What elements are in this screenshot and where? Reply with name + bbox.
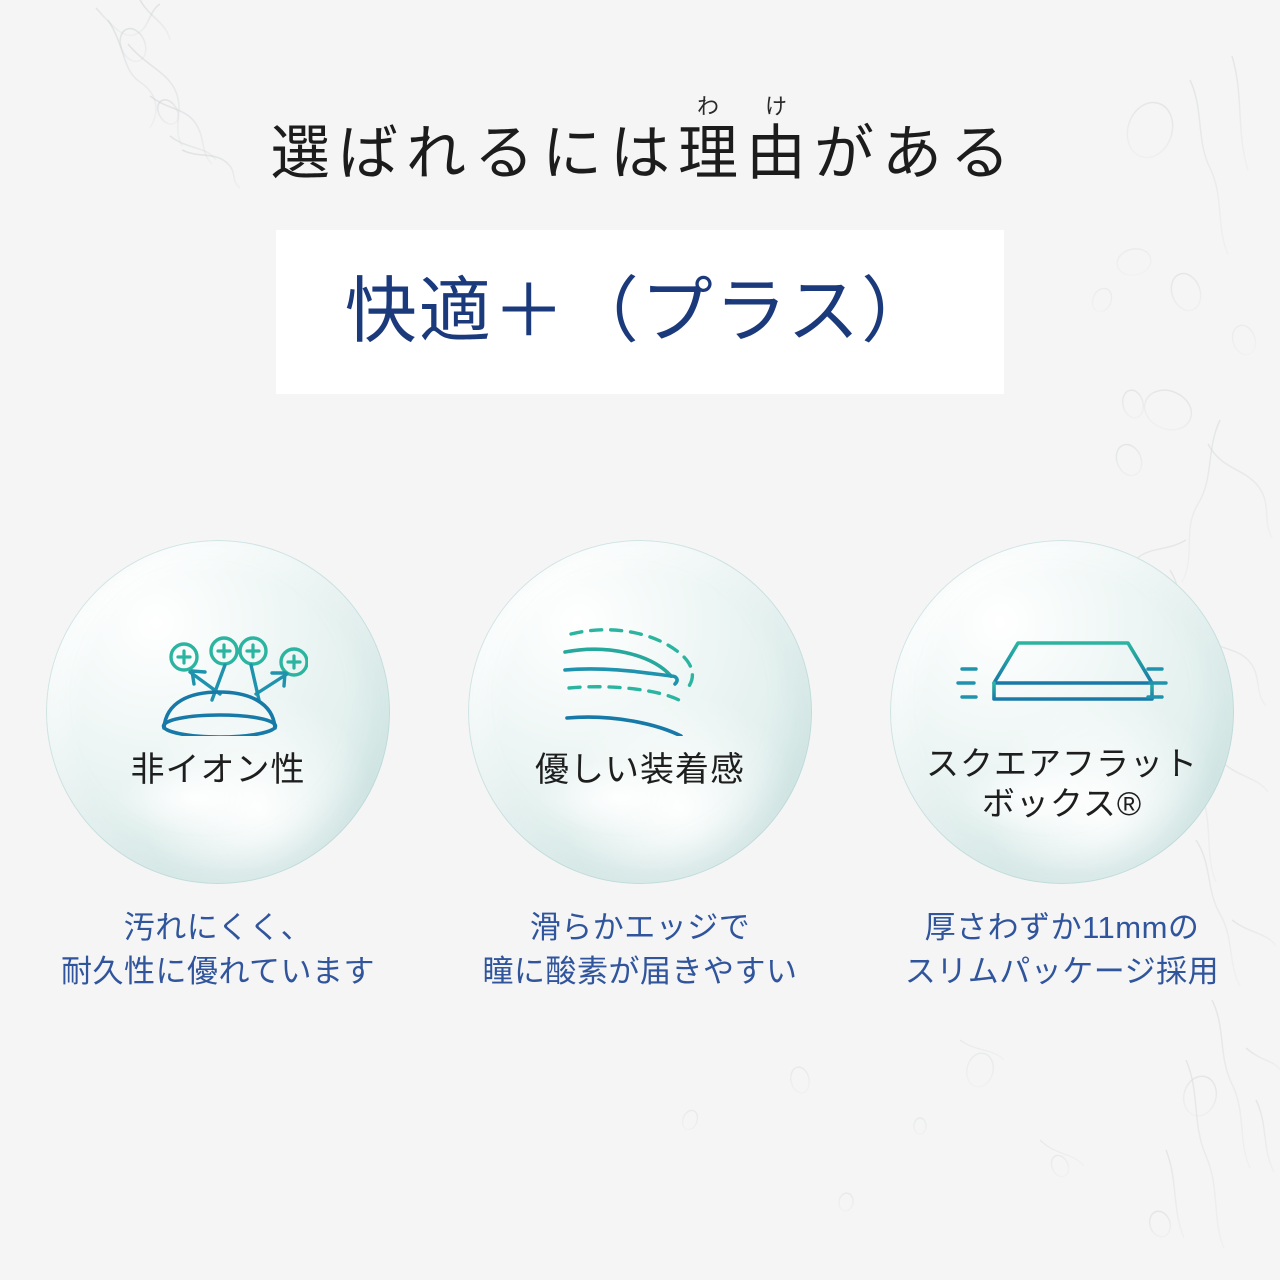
feature-list: 非イオン性 汚れにくく、 耐久性に優れています [0,540,1280,994]
headline-char: 選 [266,124,334,184]
feature-label: 優しい装着感 [535,750,745,791]
ruby-base-char: 理 [678,124,738,184]
feature-item-non-ionic: 非イオン性 汚れにくく、 耐久性に優れています [18,540,418,994]
feature-caption: 滑らかエッジで 瞳に酸素が届きやすい [483,906,798,994]
feature-caption-line: 汚れにくく、 [124,910,312,945]
headline-char: る [470,124,538,184]
feature-bubble: 非イオン性 [46,540,390,884]
feature-item-smooth-edge: 優しい装着感 滑らかエッジで 瞳に酸素が届きやすい [440,540,840,994]
feature-label-line: 優しい装着感 [535,751,745,789]
furigana-text: わ [697,96,719,118]
feature-label: スクエアフラット ボックス® [926,744,1198,825]
feature-caption-line: 厚さわずか11mmの [925,910,1200,945]
feature-label-line: ボックス® [982,785,1142,822]
smooth-edge-icon [555,614,725,736]
feature-caption-line: 耐久性に優れています [61,954,375,989]
headline-char: れ [402,124,470,184]
headline-char: が [810,124,878,184]
ruby-group-riyuu-1: わ 理 [674,96,742,184]
feature-caption-line: 滑らかエッジで [530,910,751,945]
feature-caption-line: スリムパッケージ採用 [905,954,1219,989]
feature-label-line: 非イオン性 [131,751,306,789]
square-flat-box-icon [956,614,1168,736]
feature-caption-line: 瞳に酸素が届きやすい [483,954,798,989]
headline-char: あ [878,124,946,184]
furigana-text: け [765,96,787,118]
feature-caption: 厚さわずか11mmの スリムパッケージ採用 [905,906,1219,994]
headline-inner: 選 ば れ る に は わ 理 け 由 が あ る [266,96,1014,184]
product-title: 快適＋（プラス） [345,276,936,348]
headline-char: ば [334,124,402,184]
non-ionic-lens-icon [128,614,308,736]
headline-char: は [606,124,674,184]
page-headline: 選 ば れ る に は わ 理 け 由 が あ る [0,96,1280,184]
feature-bubble: スクエアフラット ボックス® [890,540,1234,884]
headline-char: に [538,124,606,184]
headline-char: る [946,124,1014,184]
feature-label-line: スクエアフラット [926,745,1198,782]
feature-item-flat-box: スクエアフラット ボックス® 厚さわずか11mmの スリムパッケージ採用 [862,540,1262,994]
ruby-base-char: 由 [746,124,806,184]
feature-label: 非イオン性 [131,750,306,791]
feature-caption: 汚れにくく、 耐久性に優れています [61,906,375,994]
ruby-group-riyuu-2: け 由 [742,96,810,184]
feature-bubble: 優しい装着感 [468,540,812,884]
product-title-box: 快適＋（プラス） [276,230,1004,394]
promo-page: 選 ば れ る に は わ 理 け 由 が あ る 快適＋（プラス） [0,0,1280,1280]
